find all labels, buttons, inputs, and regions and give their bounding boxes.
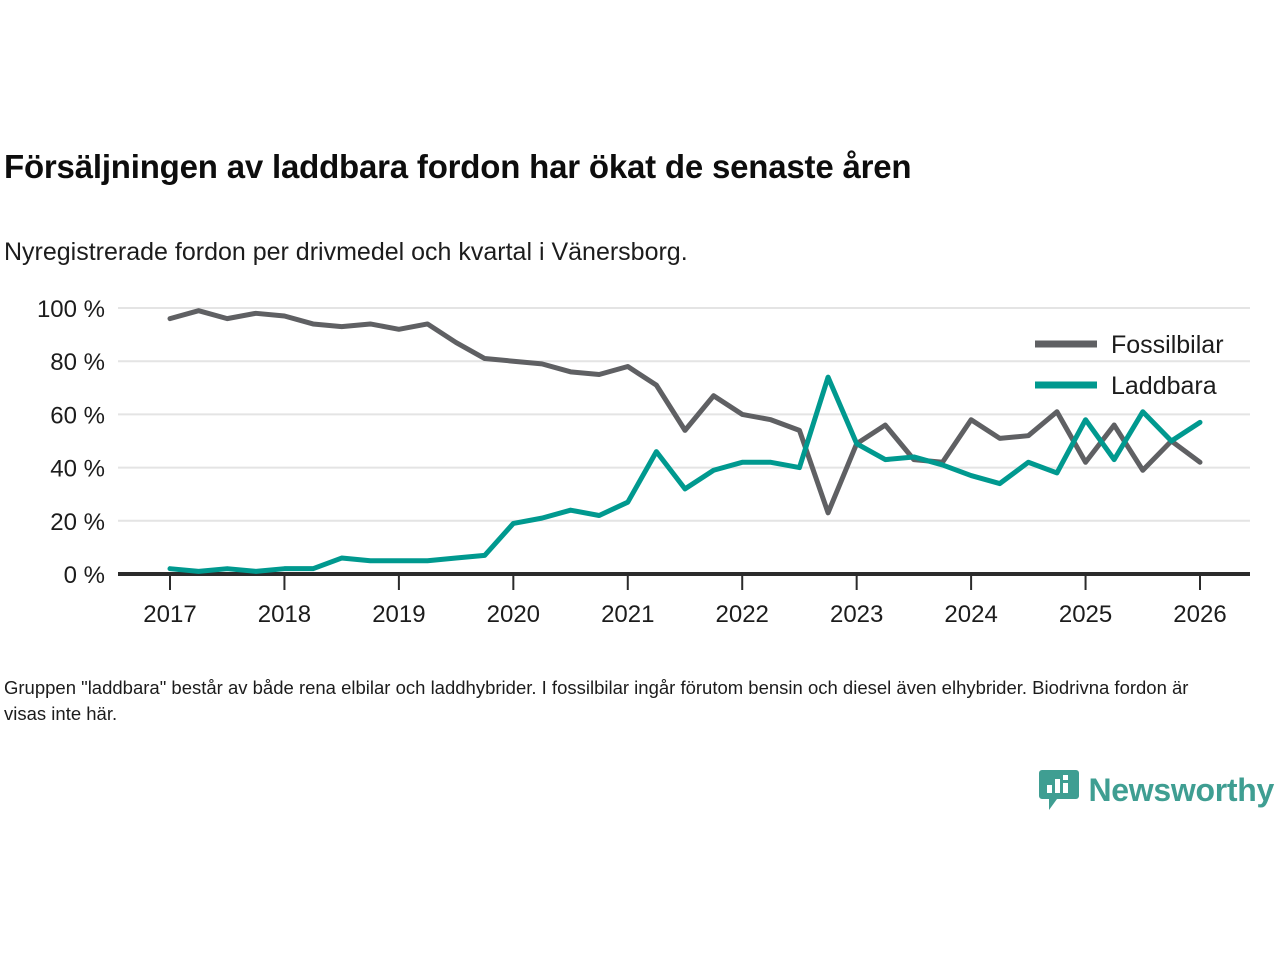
x-axis-tick-labels: 2017201820192020202120222023202420252026 (143, 601, 1226, 628)
logo-wordmark: Newsworthy (1089, 772, 1275, 809)
x-axis-tick-label: 2025 (1059, 601, 1112, 628)
y-axis-tick-labels: 0 %20 %40 %60 %80 %100 % (37, 296, 105, 589)
x-axis-tick-label: 2021 (601, 601, 654, 628)
x-axis-tick-label: 2022 (716, 601, 769, 628)
y-axis-tick-label: 0 % (64, 562, 105, 589)
page-title: Försäljningen av laddbara fordon har öka… (4, 148, 911, 186)
bar-chart-speech-bubble-icon (1039, 768, 1079, 812)
line-chart: 0 %20 %40 %60 %80 %100 % 201720182019202… (0, 280, 1280, 630)
y-axis-tick-label: 40 % (50, 456, 105, 483)
legend-label: Fossilbilar (1111, 331, 1224, 359)
y-axis-tick-label: 100 % (37, 296, 105, 323)
x-axis-tick-label: 2026 (1173, 601, 1226, 628)
newsworthy-logo: Newsworthy (1039, 768, 1275, 812)
series-lines (170, 311, 1200, 572)
chart-page: Försäljningen av laddbara fordon har öka… (0, 0, 1280, 960)
x-axis-tick-label: 2019 (372, 601, 425, 628)
legend-label: Laddbara (1111, 372, 1217, 400)
x-axis-tick-label: 2018 (258, 601, 311, 628)
y-axis-tick-label: 80 % (50, 349, 105, 376)
y-axis-tick-label: 60 % (50, 402, 105, 429)
x-axis-tick-label: 2024 (944, 601, 997, 628)
chart-footnote: Gruppen "laddbara" består av både rena e… (4, 675, 1234, 728)
chart-subtitle: Nyregistrerade fordon per drivmedel och … (4, 238, 688, 267)
x-axis-ticks (170, 576, 1200, 590)
x-axis-tick-label: 2023 (830, 601, 883, 628)
chart-svg: 0 %20 %40 %60 %80 %100 % 201720182019202… (0, 280, 1280, 630)
series-line-laddbara (170, 377, 1200, 571)
y-axis-tick-label: 20 % (50, 509, 105, 536)
x-axis-tick-label: 2017 (143, 601, 196, 628)
x-axis-tick-label: 2020 (487, 601, 540, 628)
chart-legend: FossilbilarLaddbara (1035, 331, 1224, 400)
